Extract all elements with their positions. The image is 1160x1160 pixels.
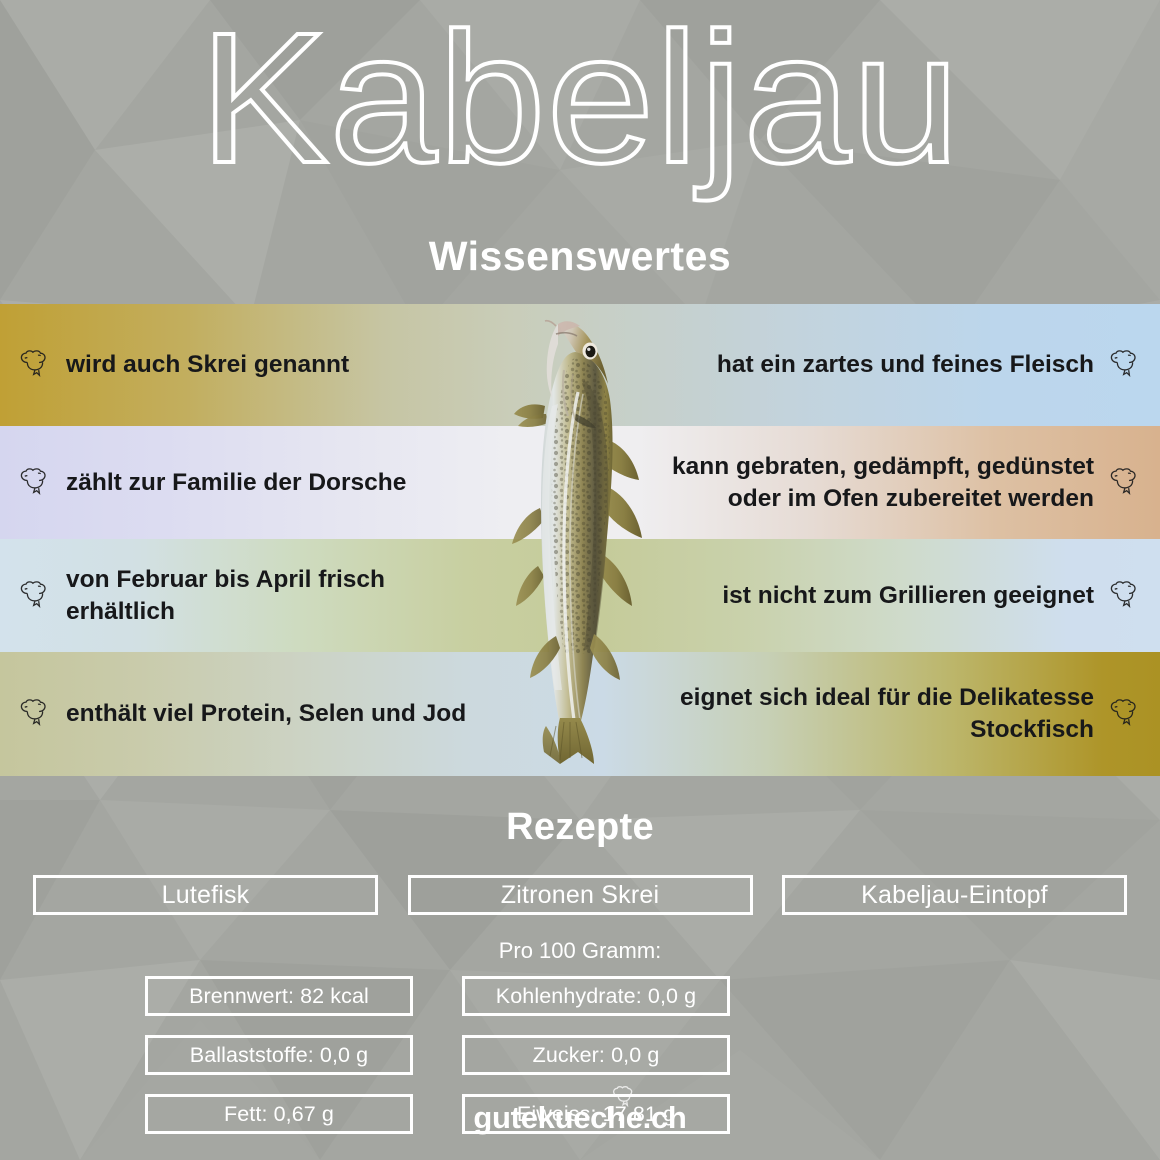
fact-text: wird auch Skrei genannt bbox=[66, 349, 349, 381]
poster-header: Kabeljau Wissenswertes bbox=[0, 0, 1160, 304]
page-title: Kabeljau bbox=[0, 4, 1160, 194]
infographic-poster: Kabeljau Wissenswertes wir bbox=[0, 0, 1160, 1160]
page-subtitle: Wissenswertes bbox=[0, 233, 1160, 280]
brand-logo[interactable]: gutekueche.ch bbox=[473, 1100, 686, 1136]
nutrition-item-kohlenhydrate: Kohlenhydrate: 0,0 g bbox=[462, 976, 730, 1016]
chef-hat-icon bbox=[18, 581, 52, 611]
fact-item-left-2: zählt zur Familie der Dorsche bbox=[18, 467, 498, 499]
chef-hat-icon bbox=[1108, 699, 1142, 729]
fact-item-right-3: ist nicht zum Grillieren geeignet bbox=[662, 580, 1142, 612]
recipe-button-kabeljau-eintopf[interactable]: Kabeljau-Eintopf bbox=[782, 875, 1127, 915]
fact-band-2: zählt zur Familie der Dorsche kann gebra… bbox=[0, 426, 1160, 539]
chef-hat-icon bbox=[611, 1086, 637, 1109]
fact-text: enthält viel Protein, Selen und Jod bbox=[66, 698, 466, 730]
fact-text: von Februar bis April frisch erhältlich bbox=[66, 564, 498, 628]
nutrition-item-zucker: Zucker: 0,0 g bbox=[462, 1035, 730, 1075]
chef-hat-icon bbox=[1108, 581, 1142, 611]
brand-text: gutekueche.ch bbox=[473, 1100, 686, 1135]
fact-band-1: wird auch Skrei genannt hat ein zartes u… bbox=[0, 304, 1160, 426]
fact-band-3: von Februar bis April frisch erhältlich … bbox=[0, 539, 1160, 652]
fact-item-left-3: von Februar bis April frisch erhältlich bbox=[18, 564, 498, 628]
fact-text: kann gebraten, gedämpft, gedünstet oder … bbox=[662, 451, 1094, 515]
poster-footer: gutekueche.ch bbox=[0, 1100, 1160, 1136]
nutrition-item-ballaststoffe: Ballaststoffe: 0,0 g bbox=[145, 1035, 413, 1075]
fact-text: hat ein zartes und feines Fleisch bbox=[717, 349, 1094, 381]
recipes-heading: Rezepte bbox=[0, 806, 1160, 849]
fact-item-left-1: wird auch Skrei genannt bbox=[18, 349, 498, 381]
recipe-buttons: Lutefisk Zitronen Skrei Kabeljau-Eintopf bbox=[33, 875, 1127, 915]
nutrition-label: Pro 100 Gramm: bbox=[0, 938, 1160, 964]
fact-item-right-2: kann gebraten, gedämpft, gedünstet oder … bbox=[662, 451, 1142, 515]
recipe-button-lutefisk[interactable]: Lutefisk bbox=[33, 875, 378, 915]
fact-item-right-4: eignet sich ideal für die Delikatesse St… bbox=[662, 682, 1142, 746]
nutrition-item-brennwert: Brennwert: 82 kcal bbox=[145, 976, 413, 1016]
facts-section: wird auch Skrei genannt hat ein zartes u… bbox=[0, 304, 1160, 776]
fact-band-4: enthält viel Protein, Selen und Jod eign… bbox=[0, 652, 1160, 776]
fact-text: eignet sich ideal für die Delikatesse St… bbox=[662, 682, 1094, 746]
chef-hat-icon bbox=[1108, 468, 1142, 498]
chef-hat-icon bbox=[1108, 350, 1142, 380]
fact-text: ist nicht zum Grillieren geeignet bbox=[722, 580, 1094, 612]
fact-item-right-1: hat ein zartes und feines Fleisch bbox=[662, 349, 1142, 381]
fact-text: zählt zur Familie der Dorsche bbox=[66, 467, 406, 499]
fact-item-left-4: enthält viel Protein, Selen und Jod bbox=[18, 698, 498, 730]
chef-hat-icon bbox=[18, 468, 52, 498]
chef-hat-icon bbox=[18, 699, 52, 729]
recipe-button-zitronen-skrei[interactable]: Zitronen Skrei bbox=[408, 875, 753, 915]
chef-hat-icon bbox=[18, 350, 52, 380]
